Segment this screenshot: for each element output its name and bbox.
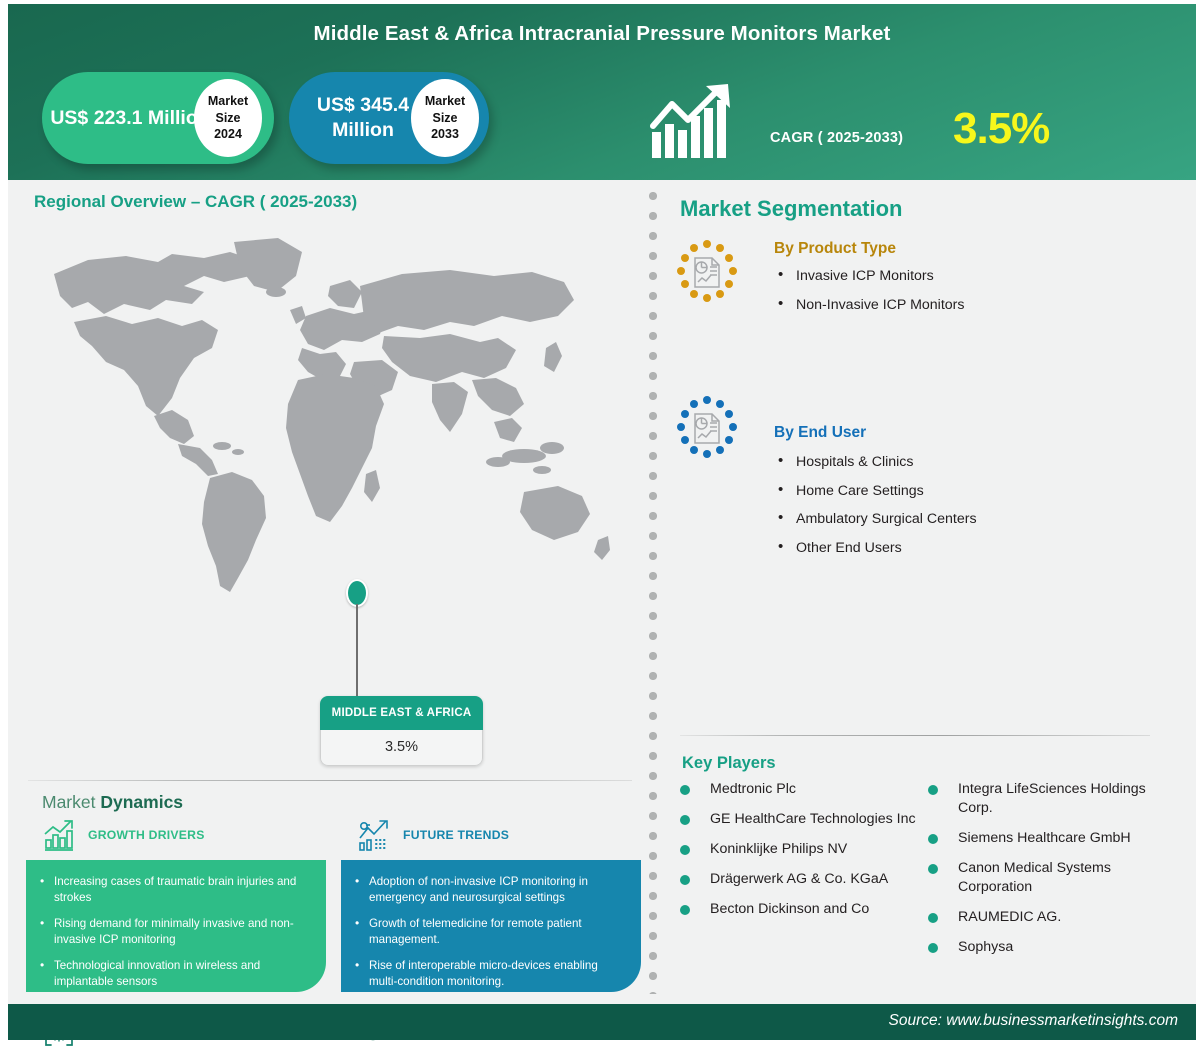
list-item: Becton Dickinson and Co bbox=[674, 900, 920, 919]
market-dynamics-divider bbox=[28, 780, 632, 781]
key-players-list-right: Integra LifeSciences Holdings Corp. Siem… bbox=[922, 780, 1168, 957]
list-item: Ambulatory Surgical Centers bbox=[774, 509, 1164, 530]
list-item: Non-Invasive ICP Monitors bbox=[774, 295, 1164, 316]
list-item: Integra LifeSciences Holdings Corp. bbox=[922, 780, 1168, 818]
growth-chart-arrow-icon bbox=[42, 818, 76, 854]
market-dynamics-title-light: Market bbox=[42, 792, 100, 812]
list-item: Sophysa bbox=[922, 938, 1168, 957]
list-item: Technological innovation in wireless and… bbox=[40, 958, 310, 991]
region-callout-value: 3.5% bbox=[320, 730, 483, 766]
badge-line-1: Market bbox=[425, 93, 465, 110]
region-callout: MIDDLE EAST & AFRICA 3.5% bbox=[320, 696, 483, 766]
list-item: Hospitals & Clinics bbox=[774, 452, 1164, 473]
list-item: Rising demand for minimally invasive and… bbox=[40, 916, 310, 949]
list-item: Invasive ICP Monitors bbox=[774, 266, 1164, 287]
growth-arrow-bar-chart-icon bbox=[650, 82, 736, 160]
market-size-2024-badge: Market Size 2024 bbox=[194, 79, 262, 157]
badge-line-3: 2033 bbox=[431, 126, 459, 143]
list-item: Canon Medical Systems Corporation bbox=[922, 859, 1168, 897]
world-map bbox=[54, 230, 624, 620]
list-item: Increasing cases of traumatic brain inju… bbox=[40, 874, 310, 907]
market-size-2024-pill: US$ 223.1 Million Market Size 2024 bbox=[42, 72, 274, 164]
market-segmentation-title: Market Segmentation bbox=[680, 196, 903, 222]
list-item: Home Care Settings bbox=[774, 481, 1164, 502]
badge-line-2: Size bbox=[215, 110, 240, 127]
report-document-dots-icon bbox=[676, 396, 738, 458]
trend-line-chart-icon bbox=[357, 818, 391, 854]
market-dynamics-title: Market Dynamics bbox=[42, 792, 183, 813]
list-item: Medtronic Plc bbox=[674, 780, 920, 799]
list-item: Adoption of non-invasive ICP monitoring … bbox=[355, 874, 625, 907]
segment-end-user-list: Hospitals & Clinics Home Care Settings A… bbox=[774, 452, 1164, 558]
market-dynamics-title-bold: Dynamics bbox=[100, 792, 183, 812]
list-item: RAUMEDIC AG. bbox=[922, 908, 1168, 927]
growth-drivers-list: Increasing cases of traumatic brain inju… bbox=[40, 874, 310, 991]
future-trends-box: Adoption of non-invasive ICP monitoring … bbox=[341, 860, 641, 992]
header-banner: Middle East & Africa Intracranial Pressu… bbox=[8, 4, 1196, 180]
key-players-list-left: Medtronic Plc GE HealthCare Technologies… bbox=[674, 780, 920, 919]
segment-end-user-body: By End User Hospitals & Clinics Home Car… bbox=[774, 396, 1164, 566]
report-document-dots-icon bbox=[676, 240, 738, 302]
page-title: Middle East & Africa Intracranial Pressu… bbox=[8, 22, 1196, 46]
growth-drivers-label: GROWTH DRIVERS bbox=[88, 828, 205, 842]
segment-end-user-heading: By End User bbox=[774, 424, 1164, 442]
key-players-divider bbox=[680, 735, 1150, 736]
cagr-value: 3.5% bbox=[953, 104, 1049, 154]
market-size-2033-badge: Market Size 2033 bbox=[411, 79, 479, 157]
growth-drivers-cell: GROWTH DRIVERS Increasing cases of traum… bbox=[26, 818, 326, 992]
list-item: Drägerwerk AG & Co. KGaA bbox=[674, 870, 920, 889]
infographic-page: Middle East & Africa Intracranial Pressu… bbox=[0, 0, 1196, 1048]
segment-product-type-body: By Product Type Invasive ICP Monitors No… bbox=[774, 240, 1164, 323]
list-item: Koninklijke Philips NV bbox=[674, 840, 920, 859]
future-trends-cell: FUTURE TRENDS Adoption of non-invasive I… bbox=[341, 818, 641, 992]
key-players-column-left: Medtronic Plc GE HealthCare Technologies… bbox=[674, 780, 920, 930]
badge-line-3: 2024 bbox=[214, 126, 242, 143]
map-pin-stem bbox=[356, 604, 358, 696]
market-size-2033-pill: US$ 345.4 Million Market Size 2033 bbox=[289, 72, 489, 164]
source-link[interactable]: Source: www.businessmarketinsights.com bbox=[889, 1012, 1178, 1030]
list-item: GE HealthCare Technologies Inc bbox=[674, 810, 920, 829]
badge-line-2: Size bbox=[432, 110, 457, 127]
vertical-dotted-divider bbox=[648, 188, 658, 994]
segment-product-type-list: Invasive ICP Monitors Non-Invasive ICP M… bbox=[774, 266, 1164, 315]
future-trends-label: FUTURE TRENDS bbox=[403, 828, 509, 842]
regional-overview-title: Regional Overview – CAGR ( 2025-2033) bbox=[34, 192, 357, 212]
cagr-label: CAGR ( 2025-2033) bbox=[770, 130, 903, 146]
segment-product-type-heading: By Product Type bbox=[774, 240, 1164, 258]
list-item: Other End Users bbox=[774, 538, 1164, 559]
regional-overview-section: Regional Overview – CAGR ( 2025-2033) bbox=[24, 184, 634, 1004]
footer-bar: Source: www.businessmarketinsights.com bbox=[8, 1004, 1196, 1040]
badge-line-1: Market bbox=[208, 93, 248, 110]
map-location-pin bbox=[346, 579, 368, 607]
growth-drivers-box: Increasing cases of traumatic brain inju… bbox=[26, 860, 326, 992]
key-players-title: Key Players bbox=[682, 754, 776, 773]
list-item: Growth of telemedicine for remote patien… bbox=[355, 916, 625, 949]
key-players-column-right: Integra LifeSciences Holdings Corp. Siem… bbox=[922, 780, 1168, 968]
future-trends-header: FUTURE TRENDS bbox=[341, 818, 641, 860]
growth-drivers-header: GROWTH DRIVERS bbox=[26, 818, 326, 860]
future-trends-list: Adoption of non-invasive ICP monitoring … bbox=[355, 874, 625, 991]
market-segmentation-section: Market Segmentation bbox=[672, 184, 1182, 1004]
region-callout-name: MIDDLE EAST & AFRICA bbox=[320, 696, 483, 730]
list-item: Rise of interoperable micro-devices enab… bbox=[355, 958, 625, 991]
list-item: Siemens Healthcare GmbH bbox=[922, 829, 1168, 848]
